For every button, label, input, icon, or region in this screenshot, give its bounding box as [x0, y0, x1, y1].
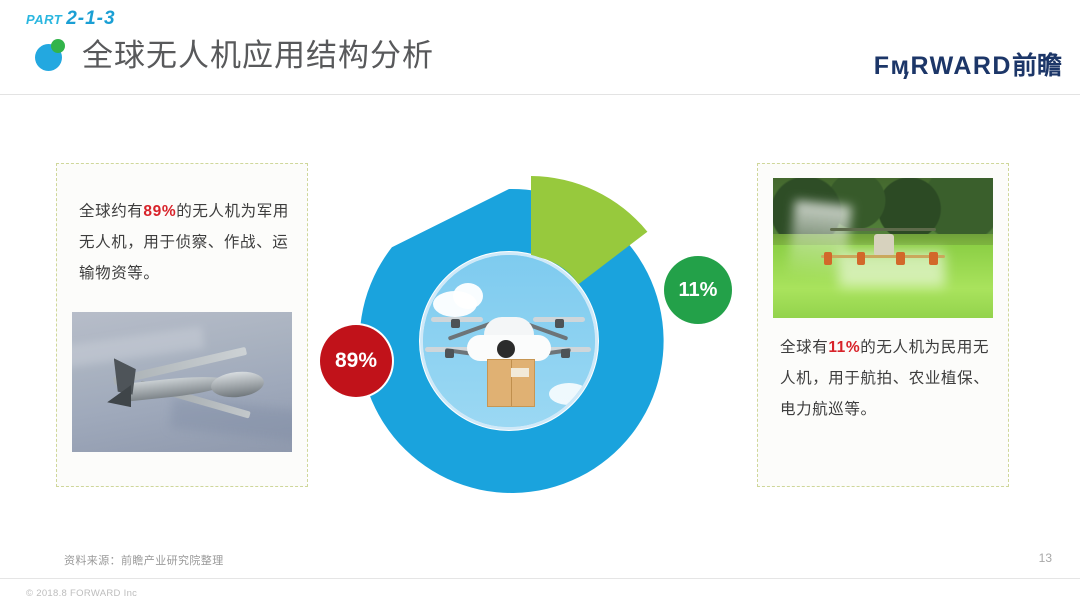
bullet-green-dot-icon [51, 39, 65, 53]
badge-civil-percent: 11% [664, 256, 732, 324]
bullet-circle-icon [34, 38, 68, 72]
donut-chart [344, 176, 674, 506]
left-info-panel: 全球约有89%的无人机为军用无人机，用于侦察、作战、运输物资等。 [56, 163, 308, 487]
footer-divider [0, 578, 1080, 579]
forward-logo: FӎRWARD前瞻 [874, 46, 1062, 82]
header-divider [0, 94, 1080, 95]
badge-military-percent: 89% [320, 325, 392, 397]
copyright-text: © 2018.8 FORWARD Inc [26, 588, 137, 599]
right-highlight-value: 11% [828, 339, 860, 356]
agriculture-drone-photo [773, 178, 993, 318]
title-row: 全球无人机应用结构分析 [34, 38, 434, 72]
left-text-before: 全球约有 [79, 203, 143, 220]
part-word: PART [26, 12, 62, 27]
agriculture-drone-image [773, 178, 993, 318]
part-number: 2-1-3 [66, 8, 115, 29]
left-highlight-value: 89% [143, 203, 176, 220]
right-text-before: 全球有 [780, 339, 828, 356]
page-number: 13 [1039, 551, 1052, 565]
slide-canvas: PART2-1-3 全球无人机应用结构分析 FӎRWARD前瞻 全球约有89%的… [0, 0, 1080, 608]
right-info-panel: 全球有11%的无人机为民用无人机，用于航拍、农业植保、电力航巡等。 [757, 163, 1009, 487]
page-title: 全球无人机应用结构分析 [82, 40, 434, 71]
source-note: 资料来源：前瞻产业研究院整理 [64, 552, 224, 568]
part-label: PART2-1-3 [26, 8, 116, 30]
left-panel-text: 全球约有89%的无人机为军用无人机，用于侦察、作战、运输物资等。 [79, 196, 289, 289]
military-drone-photo [72, 312, 292, 452]
center-drone-illustration [423, 255, 595, 427]
military-drone-image [72, 312, 292, 452]
logo-text-en: FӎRWARD [874, 52, 1012, 80]
logo-text-cn: 前瞻 [1012, 52, 1062, 80]
right-panel-text: 全球有11%的无人机为民用无人机，用于航拍、农业植保、电力航巡等。 [780, 332, 990, 425]
